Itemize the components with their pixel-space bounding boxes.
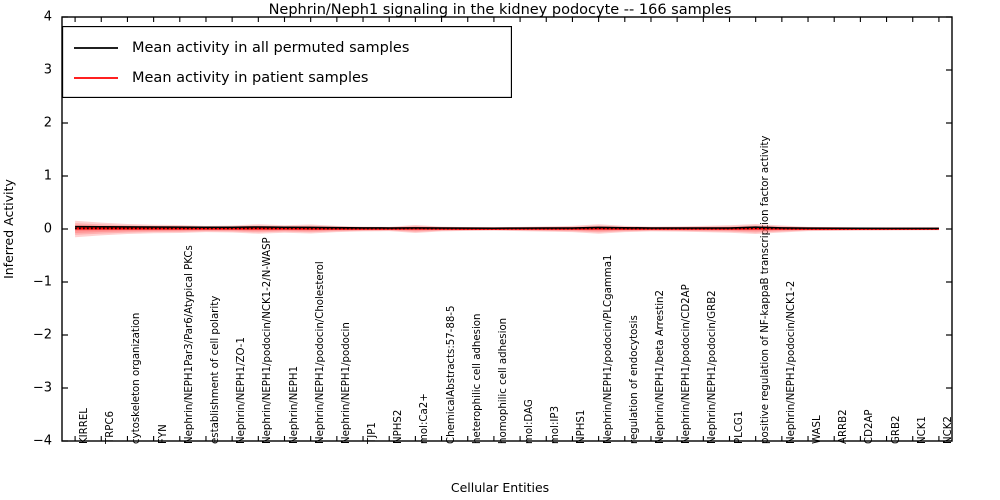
legend-label: Mean activity in patient samples: [132, 70, 368, 86]
legend-box: [63, 27, 512, 98]
chart-figure: Nephrin/Neph1 signaling in the kidney po…: [0, 0, 1000, 500]
chart-legend: [62, 26, 512, 98]
legend-label: Mean activity in all permuted samples: [132, 40, 409, 56]
